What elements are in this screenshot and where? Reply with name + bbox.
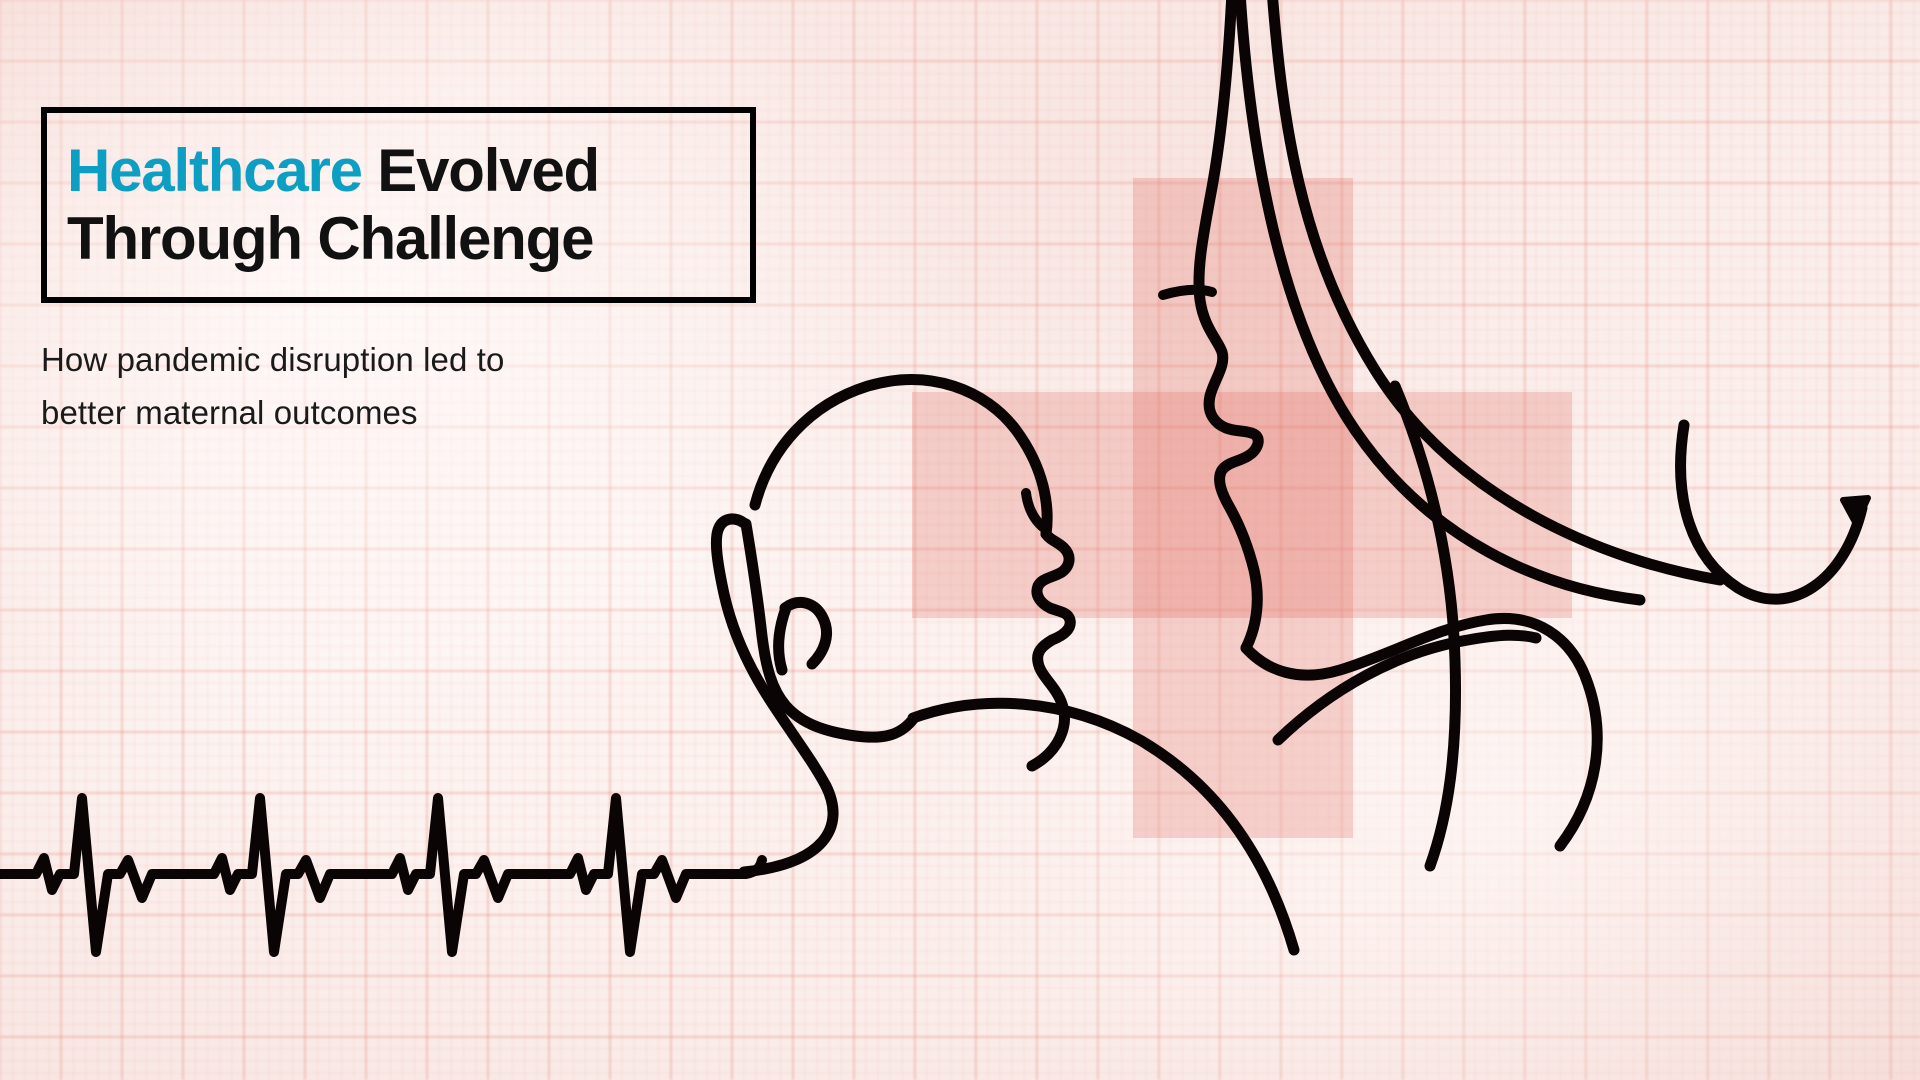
banner-canvas: Healthcare Evolved Through Challenge How…	[0, 0, 1920, 1080]
subtitle-line-1: How pandemic disruption led to	[41, 333, 801, 386]
headline-line-1: Healthcare Evolved	[67, 137, 730, 205]
headline-line-1-rest: Evolved	[362, 137, 599, 204]
subtitle-line-2: better maternal outcomes	[41, 386, 801, 439]
mother-forearm-line	[1278, 635, 1536, 740]
subtitle-text: How pandemic disruption led to better ma…	[41, 333, 801, 439]
headline-accent-word: Healthcare	[67, 137, 362, 204]
ecg-waveform-line	[0, 798, 762, 952]
cradling-hand-thumb	[716, 519, 826, 786]
mother-hair-outer-strand	[1272, 0, 1720, 580]
cradling-hand-knuckle	[785, 602, 827, 664]
headline-box: Healthcare Evolved Through Challenge	[41, 107, 756, 303]
mother-eyebrow-accent	[1163, 290, 1212, 295]
headline-line-2: Through Challenge	[67, 205, 730, 273]
baby-body-arc	[913, 703, 1294, 950]
cradling-hand-finger-crease	[779, 608, 786, 670]
baby-face-profile	[1032, 534, 1070, 766]
